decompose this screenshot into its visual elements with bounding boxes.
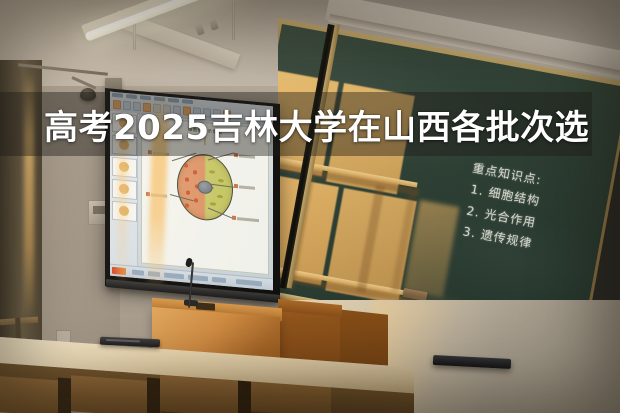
callout-label-4 bbox=[234, 184, 255, 190]
taskbar-item-5[interactable] bbox=[212, 277, 226, 283]
slide-thumbnail[interactable] bbox=[112, 157, 137, 178]
stage-panel bbox=[0, 376, 58, 413]
caption-text: 高考2025吉林大学在山西各批次选 bbox=[44, 98, 584, 150]
stage-panel bbox=[160, 375, 238, 413]
chalk-notes: 重点知识点: 1. 细胞结构 2. 光合作用 3. 遗传规律 bbox=[459, 160, 545, 253]
slide-thumbnail[interactable] bbox=[112, 179, 137, 200]
stage-panel-gap bbox=[58, 378, 71, 413]
stage-panel bbox=[71, 375, 147, 413]
stage-panel-gap bbox=[147, 378, 160, 413]
taskbar-item-2[interactable] bbox=[148, 271, 160, 277]
podium-cable-notch bbox=[196, 302, 215, 311]
classroom-photo: 重点知识点: 1. 细胞结构 2. 光合作用 3. 遗传规律 bbox=[0, 0, 620, 413]
microphone-base bbox=[184, 299, 198, 306]
window-curtain bbox=[0, 60, 42, 360]
taskbar-tray[interactable] bbox=[236, 279, 262, 286]
blackboard: 重点知识点: 1. 细胞结构 2. 光合作用 3. 遗传规律 bbox=[278, 0, 620, 330]
callout-label-3 bbox=[234, 153, 255, 159]
taskbar-item-3[interactable] bbox=[164, 272, 184, 279]
stage-panel-gap bbox=[238, 378, 251, 413]
curtain-light-gap bbox=[24, 72, 34, 322]
taskbar-start-icon[interactable] bbox=[112, 267, 126, 275]
callout-label-2 bbox=[146, 192, 167, 198]
slide-thumbnail[interactable] bbox=[112, 201, 137, 222]
callout-label-5 bbox=[232, 216, 259, 222]
lamp-suspension-rod-2 bbox=[232, 0, 235, 40]
taskbar-item-1[interactable] bbox=[132, 270, 144, 276]
callout-label-1 bbox=[148, 150, 169, 156]
